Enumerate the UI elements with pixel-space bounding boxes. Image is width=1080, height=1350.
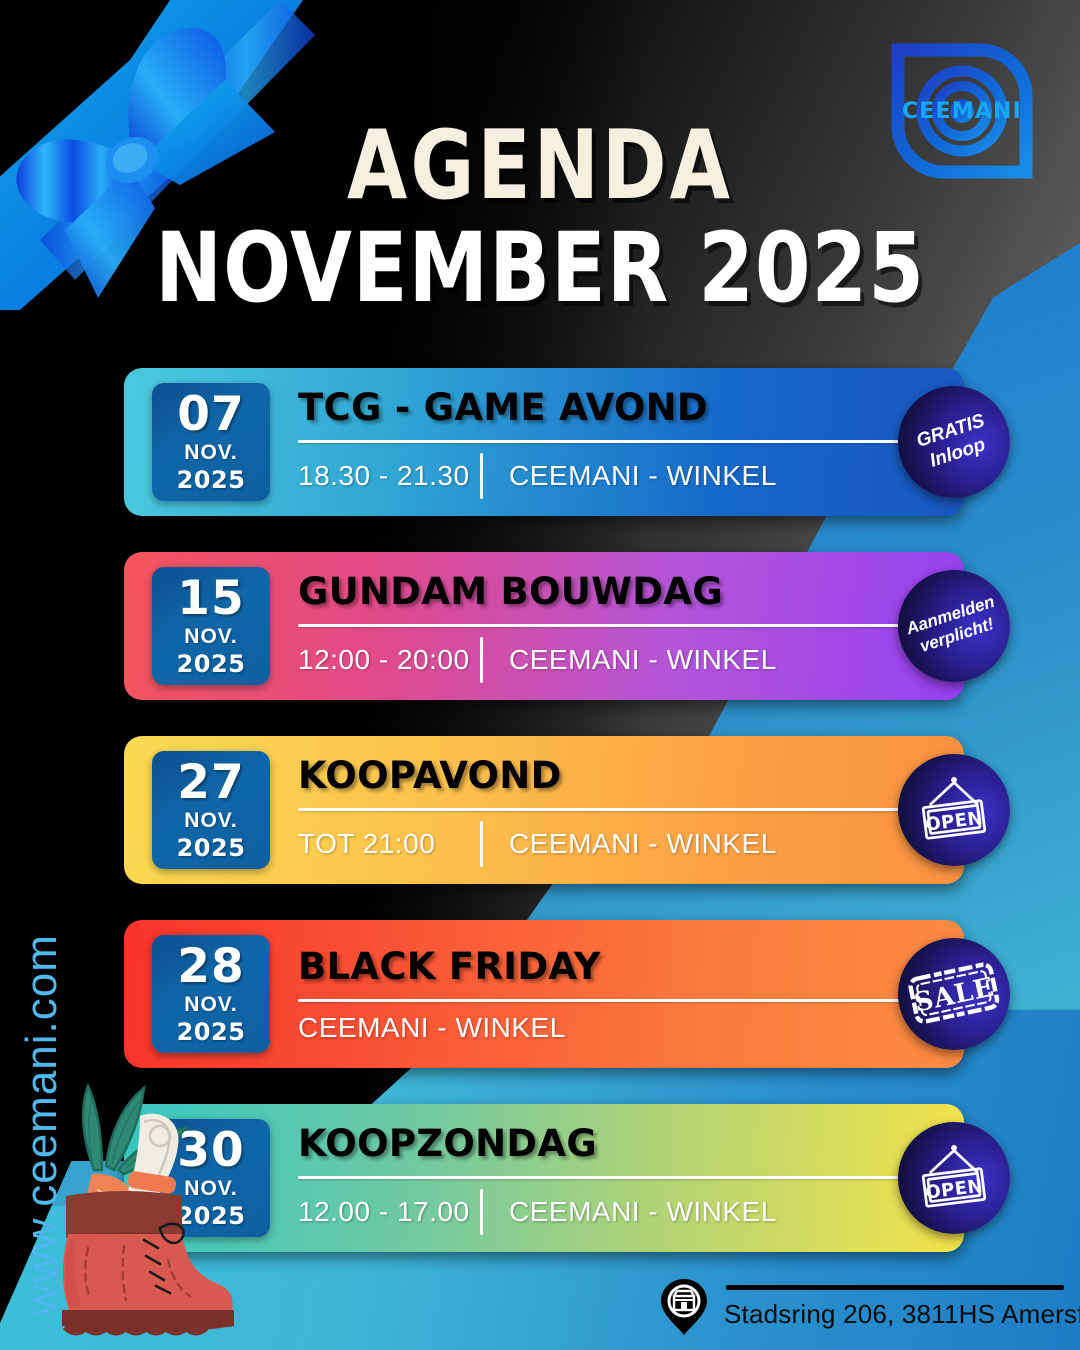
event-title: TCG - GAME AVOND — [298, 386, 904, 429]
location-pin-icon — [660, 1278, 708, 1336]
event-meta-separator — [480, 1189, 483, 1235]
event-time: 18.30 - 21.30 — [298, 460, 474, 492]
event-badge-label: GRATIS Inloop — [913, 409, 994, 475]
event-date-box: 28NOV.2025 — [152, 935, 270, 1053]
event-time: 12:00 - 20:00 — [298, 644, 474, 676]
event-day: 15 — [177, 575, 244, 622]
event-time: 12.00 - 17.00 — [298, 1196, 474, 1228]
event-location: CEEMANI - WINKEL — [509, 644, 777, 676]
event-year: 2025 — [177, 466, 246, 494]
event-date-box: 07NOV.2025 — [152, 383, 270, 501]
page-subtitle: NOVEMBER 2025 — [0, 222, 1080, 316]
event-location: CEEMANI - WINKEL — [509, 1196, 777, 1228]
event-row[interactable]: 07NOV.2025TCG - GAME AVOND18.30 - 21.30C… — [124, 368, 964, 516]
event-month: NOV. — [184, 809, 237, 833]
address-text: Stadsring 206, 3811HS Amersfoort — [724, 1299, 1080, 1330]
event-day: 27 — [177, 759, 244, 806]
event-year: 2025 — [177, 834, 246, 862]
open-sign-icon[interactable]: OPEN — [898, 1122, 1010, 1234]
event-details: BLACK FRIDAYCEEMANI - WINKEL — [298, 945, 964, 1044]
event-date-box: 27NOV.2025 — [152, 751, 270, 869]
footer: Stadsring 206, 3811HS Amersfoort — [660, 1278, 1080, 1336]
event-time: TOT 21:00 — [298, 828, 474, 860]
page-title: AGENDA — [0, 120, 1080, 213]
event-badge[interactable]: Aanmelden verplicht! — [898, 570, 1010, 682]
event-year: 2025 — [177, 650, 246, 678]
event-location: CEEMANI - WINKEL — [509, 828, 777, 860]
event-month: NOV. — [184, 993, 237, 1017]
event-divider — [298, 808, 904, 811]
event-month: NOV. — [184, 441, 237, 465]
event-title: KOOPZONDAG — [298, 1122, 904, 1165]
event-details: KOOPZONDAG12.00 - 17.00CEEMANI - WINKEL — [298, 1122, 964, 1235]
event-date-box: 15NOV.2025 — [152, 567, 270, 685]
event-meta-separator — [480, 637, 483, 683]
sinterklaas-boot-illustration — [36, 1078, 236, 1340]
event-meta: TOT 21:00CEEMANI - WINKEL — [298, 821, 904, 867]
event-details: GUNDAM BOUWDAG12:00 - 20:00CEEMANI - WIN… — [298, 570, 964, 683]
event-row[interactable]: 30NOV.2025KOOPZONDAG12.00 - 17.00CEEMANI… — [124, 1104, 964, 1252]
sale-stamp-icon[interactable]: SALE — [898, 938, 1010, 1050]
event-divider — [298, 999, 904, 1002]
event-title: BLACK FRIDAY — [298, 945, 904, 988]
event-meta: 18.30 - 21.30CEEMANI - WINKEL — [298, 453, 904, 499]
event-meta: 12.00 - 17.00CEEMANI - WINKEL — [298, 1189, 904, 1235]
event-details: TCG - GAME AVOND18.30 - 21.30CEEMANI - W… — [298, 386, 964, 499]
event-location: CEEMANI - WINKEL — [509, 460, 777, 492]
event-divider — [298, 624, 904, 627]
event-title: KOOPAVOND — [298, 754, 904, 797]
poster-canvas: CEEMANI AGENDA NOVEMBER 2025 07NOV.2025T… — [0, 0, 1080, 1350]
event-meta-separator — [480, 453, 483, 499]
event-row[interactable]: 15NOV.2025GUNDAM BOUWDAG12:00 - 20:00CEE… — [124, 552, 964, 700]
event-divider — [298, 1176, 904, 1179]
footer-divider — [726, 1285, 1064, 1290]
event-row[interactable]: 27NOV.2025KOOPAVONDTOT 21:00CEEMANI - WI… — [124, 736, 964, 884]
event-year: 2025 — [177, 1018, 246, 1046]
event-badge[interactable]: GRATIS Inloop — [898, 386, 1010, 498]
event-location: CEEMANI - WINKEL — [298, 1012, 566, 1044]
event-day: 07 — [177, 391, 244, 438]
event-day: 28 — [177, 943, 244, 990]
event-badge-label: Aanmelden verplicht! — [904, 592, 1004, 660]
page-header: AGENDA NOVEMBER 2025 — [0, 120, 1080, 301]
event-month: NOV. — [184, 625, 237, 649]
open-sign-icon[interactable]: OPEN — [898, 754, 1010, 866]
event-meta: 12:00 - 20:00CEEMANI - WINKEL — [298, 637, 904, 683]
event-row[interactable]: 28NOV.2025BLACK FRIDAYCEEMANI - WINKELSA… — [124, 920, 964, 1068]
event-meta: CEEMANI - WINKEL — [298, 1012, 904, 1044]
event-title: GUNDAM BOUWDAG — [298, 570, 904, 613]
event-divider — [298, 440, 904, 443]
event-meta-separator — [480, 821, 483, 867]
event-details: KOOPAVONDTOT 21:00CEEMANI - WINKEL — [298, 754, 964, 867]
